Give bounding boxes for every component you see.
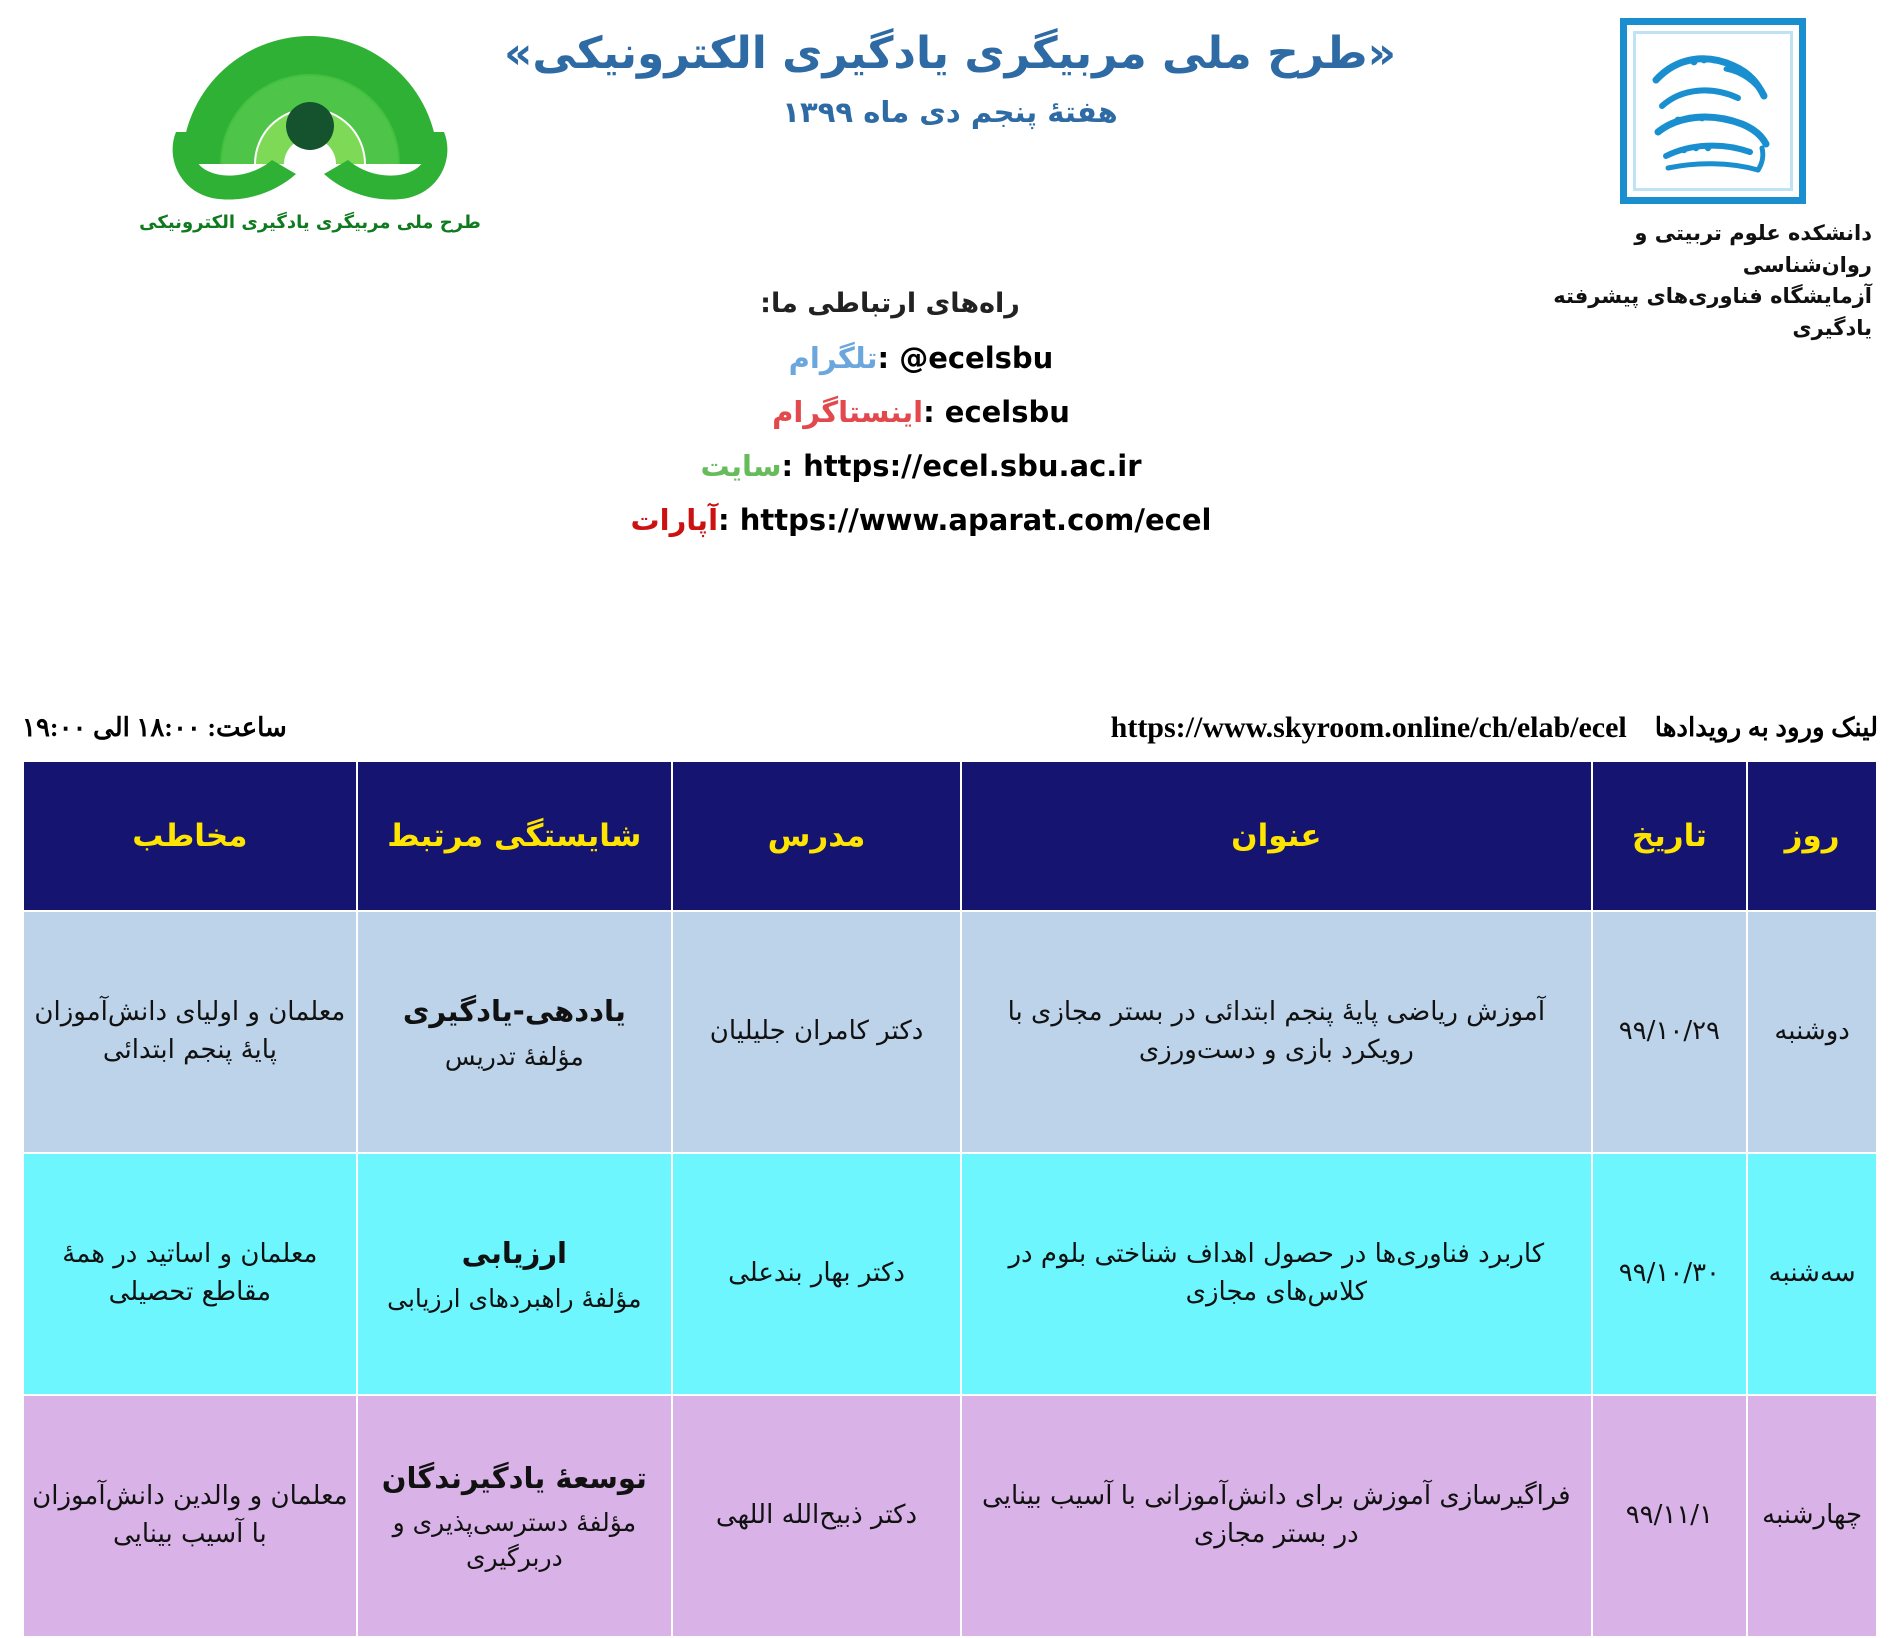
cell-date: ۹۹/۱۰/۲۹ [1592,911,1748,1153]
cell-competency: یاددهی-یادگیری مؤلفهٔ تدریس [357,911,672,1153]
sbu-logo-icon [1620,18,1806,204]
program-logo-caption: طرح ملی مربیگری یادگیری الکترونیکی [130,212,490,233]
cell-day: دوشنبه [1747,911,1877,1153]
schedule-table-wrapper: روز تاریخ عنوان مدرس شایستگی مرتبط مخاطب… [22,760,1878,1638]
cell-teacher: دکتر ذبیح‌الله اللهی [672,1395,961,1637]
cell-title: آموزش ریاضی پایهٔ پنجم ابتدائی در بستر م… [961,911,1591,1153]
poster-header: دانشکده علوم تربیتی و روان‌شناسی آزمایشگ… [0,0,1900,300]
cell-audience: معلمان و اولیای دانش‌آموزان پایهٔ پنجم ا… [23,911,357,1153]
program-logo-block: طرح ملی مربیگری یادگیری الکترونیکی [130,14,490,233]
schedule-table-body: دوشنبه ۹۹/۱۰/۲۹ آموزش ریاضی پایهٔ پنجم ا… [23,911,1877,1637]
cell-day: چهارشنبه [1747,1395,1877,1637]
cell-competency: ارزیابی مؤلفهٔ راهبردهای ارزیابی [357,1153,672,1395]
cell-teacher: دکتر بهار بندعلی [672,1153,961,1395]
telegram-label: تلگرام [789,341,878,375]
sbu-logo-inner [1633,31,1793,191]
event-link-label: لینک ورود به رویدادها [1655,713,1878,743]
cell-title: فراگیرسازی آموزش برای دانش‌آموزانی با آس… [961,1395,1591,1637]
competency-main: ارزیابی [366,1232,663,1274]
schedule-table-head: روز تاریخ عنوان مدرس شایستگی مرتبط مخاطب [23,761,1877,911]
cell-date: ۹۹/۱۰/۳۰ [1592,1153,1748,1395]
aparat-url[interactable]: https://www.aparat.com/ecel [740,503,1212,537]
site-label: سایت [700,449,781,483]
telegram-handle[interactable]: @ecelsbu [899,341,1053,375]
contact-row-telegram: @ecelsbu :تلگرام [0,341,1900,375]
site-url[interactable]: https://ecel.sbu.ac.ir [803,449,1141,483]
column-header-title: عنوان [961,761,1591,911]
table-row: چهارشنبه ۹۹/۱۱/۱ فراگیرسازی آموزش برای د… [23,1395,1877,1637]
column-header-competency: شایستگی مرتبط [357,761,672,911]
aparat-label: آپارات [631,503,719,537]
competency-sub: مؤلفهٔ تدریس [366,1039,663,1074]
competency-sub: مؤلفهٔ دسترسی‌پذیری و دربرگیری [366,1505,663,1575]
table-row: دوشنبه ۹۹/۱۰/۲۹ آموزش ریاضی پایهٔ پنجم ا… [23,911,1877,1153]
cell-day: سه‌شنبه [1747,1153,1877,1395]
faculty-name: دانشکده علوم تربیتی و روان‌شناسی [1548,218,1872,281]
instagram-handle[interactable]: ecelsbu [945,395,1070,429]
contact-row-instagram: ecelsbu :اینستاگرام [0,395,1900,429]
contact-heading: راه‌های ارتباطی ما: [0,288,1900,319]
cell-audience: معلمان و اساتید در همهٔ مقاطع تحصیلی [23,1153,357,1395]
ecel-logo-icon [160,14,460,204]
competency-main: توسعهٔ یادگیرندگان [366,1457,663,1499]
column-header-teacher: مدرس [672,761,961,911]
competency-main: یاددهی-یادگیری [366,990,663,1032]
cell-audience: معلمان و والدین دانش‌آموزان با آسیب بینا… [23,1395,357,1637]
cell-title: کاربرد فناوری‌ها در حصول اهداف شناختی بل… [961,1153,1591,1395]
contact-block: راه‌های ارتباطی ما: @ecelsbu :تلگرام ece… [0,288,1900,557]
column-header-date: تاریخ [1592,761,1748,911]
event-link-url[interactable]: https://www.skyroom.online/ch/elab/ecel [1111,711,1627,745]
contact-row-site: https://ecel.sbu.ac.ir :سایت [0,449,1900,483]
schedule-table: روز تاریخ عنوان مدرس شایستگی مرتبط مخاطب… [22,760,1878,1638]
event-time: ساعت: ۱۸:۰۰ الی ۱۹:۰۰ [22,713,287,743]
event-link-bar: لینک ورود به رویدادها https://www.skyroo… [0,700,1900,756]
cell-teacher: دکتر کامران جلیلیان [672,911,961,1153]
cell-date: ۹۹/۱۱/۱ [1592,1395,1748,1637]
column-header-audience: مخاطب [23,761,357,911]
table-header-row: روز تاریخ عنوان مدرس شایستگی مرتبط مخاطب [23,761,1877,911]
cell-competency: توسعهٔ یادگیرندگان مؤلفهٔ دسترسی‌پذیری و… [357,1395,672,1637]
table-row: سه‌شنبه ۹۹/۱۰/۳۰ کاربرد فناوری‌ها در حصو… [23,1153,1877,1395]
instagram-label: اینستاگرام [772,395,923,429]
column-header-day: روز [1747,761,1877,911]
competency-sub: مؤلفهٔ راهبردهای ارزیابی [366,1281,663,1316]
contact-row-aparat: https://www.aparat.com/ecel :آپارات [0,503,1900,537]
